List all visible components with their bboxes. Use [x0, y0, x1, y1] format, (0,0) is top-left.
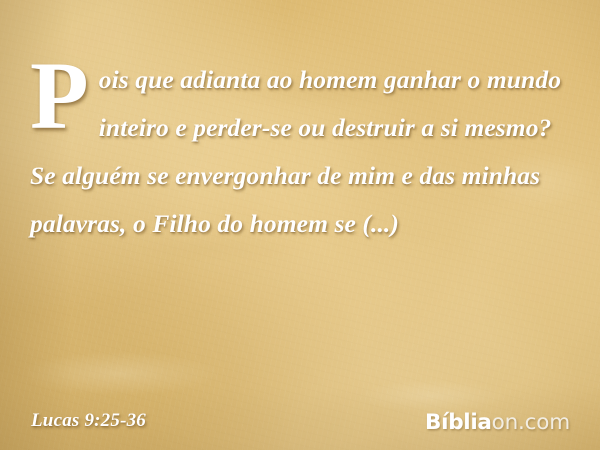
verse-text: Pois que adianta ao homem ganhar o mundo…: [30, 56, 578, 248]
verse-block: Pois que adianta ao homem ganhar o mundo…: [30, 56, 578, 248]
card-content: Pois que adianta ao homem ganhar o mundo…: [0, 0, 600, 450]
card-footer: Lucas 9:25-36 Bíbliaon.com: [0, 388, 600, 450]
verse-body: ois que adianta ao homem ganhar o mundo …: [30, 65, 561, 238]
verse-dropcap: P: [30, 58, 89, 134]
verse-card: Pois que adianta ao homem ganhar o mundo…: [0, 0, 600, 450]
logo-brand-text: Bíblia: [425, 410, 492, 435]
bibliaon-logo[interactable]: Bíbliaon.com: [425, 412, 570, 434]
logo-suffix-text: on.com: [492, 410, 570, 435]
verse-reference: Lucas 9:25-36: [31, 410, 146, 432]
